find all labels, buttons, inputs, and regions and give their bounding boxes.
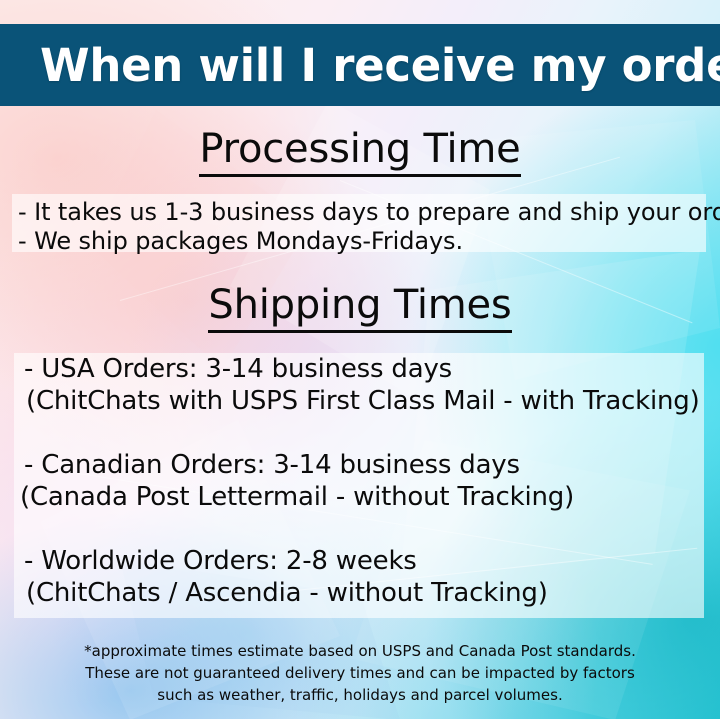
shipping-entry-canada-region: - Canadian Orders: 3-14 business days [24,450,520,480]
processing-time-line-1: - It takes us 1-3 business days to prepa… [18,198,720,226]
section-heading-processing-time: Processing Time [0,126,720,172]
shipping-entry-usa-carrier: (ChitChats with USPS First Class Mail - … [26,386,700,416]
processing-time-line-2: - We ship packages Mondays-Fridays. [18,227,463,255]
infographic-canvas: When will I receive my order? Processing… [0,0,720,719]
footer-disclaimer: *approximate times estimate based on USP… [0,640,720,706]
section-heading-processing-time-label: Processing Time [199,126,520,177]
shipping-entry-usa-region: - USA Orders: 3-14 business days [24,354,452,384]
shipping-entry-worldwide-region: - Worldwide Orders: 2-8 weeks [24,546,417,576]
shipping-entry-canada-carrier: (Canada Post Lettermail - without Tracki… [20,482,574,512]
section-heading-shipping-times: Shipping Times [0,282,720,328]
content-area: Processing Time - It takes us 1-3 busine… [0,0,720,719]
footer-disclaimer-line-2: These are not guaranteed delivery times … [40,662,680,684]
header-banner: When will I receive my order? [0,24,720,106]
footer-disclaimer-line-3: such as weather, traffic, holidays and p… [40,684,680,706]
page-title: When will I receive my order? [0,39,720,92]
footer-disclaimer-line-1: *approximate times estimate based on USP… [40,640,680,662]
section-heading-shipping-times-label: Shipping Times [208,282,511,333]
shipping-entry-worldwide-carrier: (ChitChats / Ascendia - without Tracking… [26,578,548,608]
